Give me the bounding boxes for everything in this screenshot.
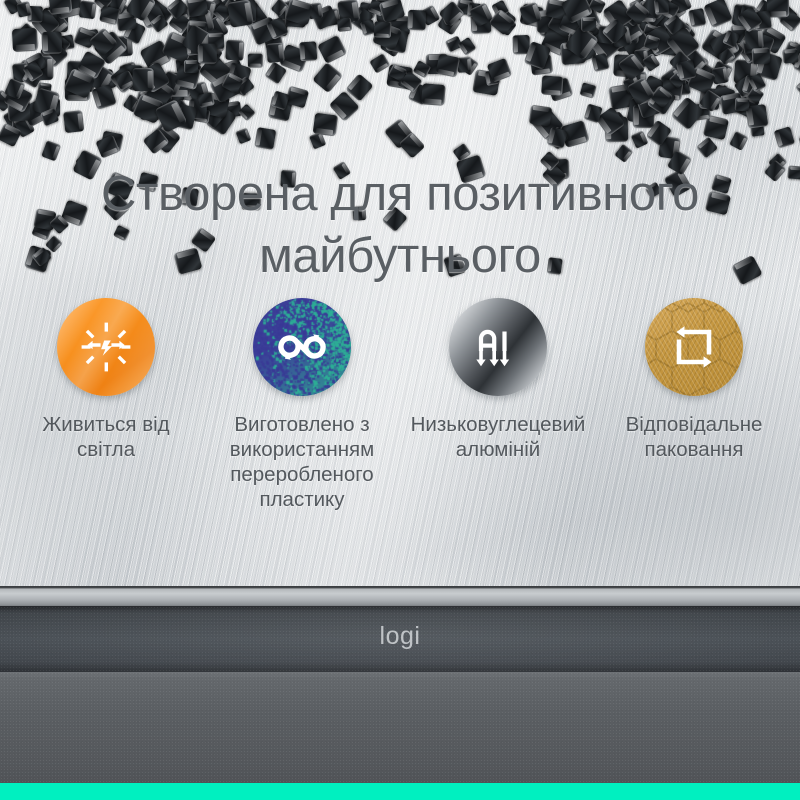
headline-line-2: майбутнього [0,225,800,287]
banner-stage: Створена для позитивного майбутнього [0,0,800,800]
feature-low-carbon-aluminium: Низьковуглецевий алюміній [400,298,596,462]
responsible-packaging-icon [645,298,743,396]
feature-caption: Живиться від світла [11,412,201,462]
feature-caption: Відповідальне паковання [599,412,789,462]
low-carbon-aluminium-icon [449,298,547,396]
feature-solar-power: Живиться від світла [8,298,204,462]
keyboard-key-deck: F4F5F6F7F8F9F10F11F1212%5^6&7*8(9)0_-+=b… [0,672,800,800]
bottom-accent-bar [0,783,800,800]
feature-caption: Низьковуглецевий алюміній [403,412,593,462]
feature-list: Живиться від світла Виготовлено з викори… [0,298,800,512]
keyboard-top-edge [0,586,800,608]
logi-brand-logo: logi [0,622,800,651]
page-title: Створена для позитивного майбутнього [0,163,800,287]
recycled-plastic-loop-icon [253,298,351,396]
headline-line-1: Створена для позитивного [0,163,800,225]
feature-caption: Виготовлено з використанням переробленог… [207,412,397,512]
feature-recycled-plastic: Виготовлено з використанням переробленог… [204,298,400,512]
solar-power-icon [57,298,155,396]
feature-responsible-packaging: Відповідальне паковання [596,298,792,462]
